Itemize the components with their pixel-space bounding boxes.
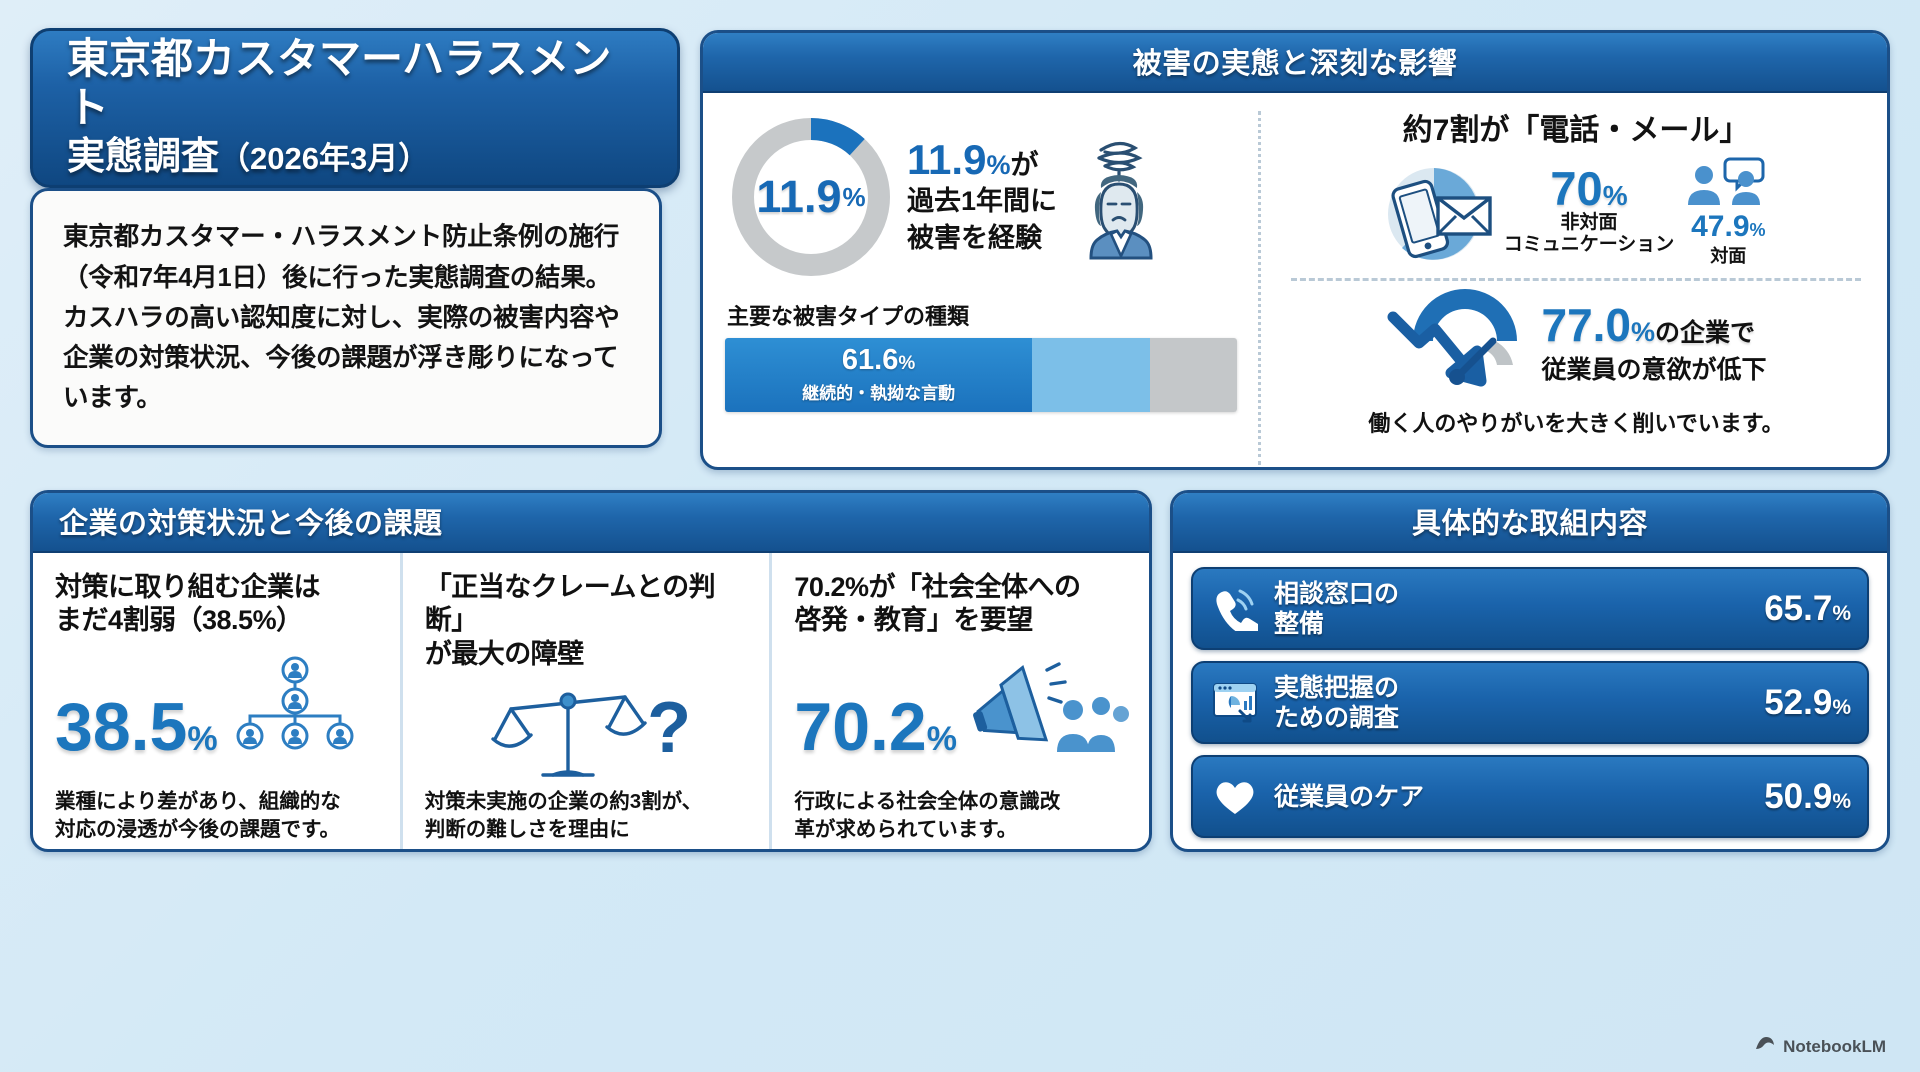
- org-chart-icon: [226, 656, 364, 757]
- measure-card-adoption: 対策に取り組む企業は まだ4割弱（38.5%） 38.5%: [33, 553, 400, 852]
- actions-panel: 具体的な取組内容 相談窓口の 整備 65.: [1170, 490, 1890, 852]
- action-item-consultation[interactable]: 相談窓口の 整備 65.7%: [1191, 567, 1869, 650]
- action-item-employee-care[interactable]: 従業員のケア 50.9%: [1191, 755, 1869, 838]
- nonfacetoface-value: 70: [1550, 162, 1602, 215]
- adoption-footnote-line1: 業種により差があり、組織的な: [55, 788, 382, 817]
- action-percent-consultation: %: [1832, 602, 1851, 625]
- action-label-survey-line1: 実態把握の: [1274, 674, 1399, 702]
- bar-primary-percent: %: [898, 353, 915, 374]
- donut-caption-line1: 過去1年間に: [907, 185, 1057, 218]
- bar-primary-value: 61.6: [842, 344, 898, 376]
- barrier-footnote-line2: 判断の難しさを理由に: [425, 816, 752, 845]
- infographic-canvas: 東京都カスタマーハラスメント 実態調査（2026年3月） 東京都カスタマー・ハラ…: [0, 0, 1920, 1072]
- impact-left-column: 11.9% 11.9%が 過去1年間に 被害を経験: [703, 93, 1258, 470]
- description-card: 東京都カスタマー・ハラスメント防止条例の施行（令和7年4月1日）後に行った実態調…: [30, 188, 662, 448]
- measure-card-education: 70.2%が「社会全体への 啓発・教育」を要望 70.2%: [769, 553, 1149, 852]
- facetoface-value: 47.9: [1691, 210, 1749, 243]
- donut-headline: 11.9%が: [907, 139, 1057, 181]
- action-label-consultation-line1: 相談窓口の: [1274, 580, 1399, 608]
- barrier-footnote-line1: 対策未実施の企業の約3割が、: [425, 788, 752, 817]
- channel-heading: 約7割が「電話・メール」: [1285, 105, 1867, 149]
- title-line-1: 東京都カスタマーハラスメント: [67, 35, 643, 132]
- adoption-percent: %: [187, 720, 217, 758]
- barrier-head-line2: が最大の障壁: [425, 638, 750, 671]
- heart-icon: [1209, 776, 1261, 818]
- title-line-2: 実態調査（2026年3月）: [67, 135, 643, 181]
- adoption-head-line1: 対策に取り組む企業は: [55, 571, 380, 604]
- measures-panel: 企業の対策状況と今後の課題 対策に取り組む企業は まだ4割弱（38.5%） 38…: [30, 490, 1152, 852]
- action-value-survey-wrap: 52.9%: [1764, 683, 1851, 723]
- actions-panel-body: 相談窓口の 整備 65.7%: [1173, 553, 1887, 848]
- action-label-employee-care: 従業員のケア: [1274, 782, 1751, 812]
- action-label-consultation-line2: 整備: [1274, 610, 1324, 638]
- action-value-employee-care-wrap: 50.9%: [1764, 777, 1851, 817]
- motivation-percent: %: [1631, 317, 1655, 347]
- balance-scales-icon: [483, 679, 653, 794]
- motivation-value: 77.0: [1541, 299, 1631, 351]
- nonfacetoface-label-1: 非対面: [1504, 212, 1675, 234]
- phone-icon: [1209, 587, 1261, 631]
- donut-chart: 11.9%: [725, 111, 897, 283]
- notebooklm-logo-icon: [1754, 1035, 1776, 1058]
- education-value-wrap: 70.2%: [794, 693, 957, 761]
- impact-panel: 被害の実態と深刻な影響 11.9%: [700, 30, 1890, 470]
- education-footnote: 行政による社会全体の意識改 革が求められています。: [794, 788, 1131, 845]
- bar-primary-label: 継続的・執拗な言動: [802, 379, 955, 404]
- question-mark-icon: ?: [647, 692, 691, 764]
- donut-headline-suffix: が: [1010, 149, 1038, 180]
- education-head-line2: 啓発・教育」を要望: [794, 604, 1129, 637]
- measure-card-barrier: 「正当なクレームとの判断」 が最大の障壁: [400, 553, 770, 852]
- channel-row: 70% 非対面 コミュニケーション: [1285, 155, 1867, 268]
- education-head-line1: 70.2%が「社会全体への: [794, 571, 1129, 604]
- impact-right-column: 約7割が「電話・メール」: [1261, 93, 1887, 470]
- impact-horizontal-divider: [1291, 278, 1861, 281]
- measures-panel-heading: 企業の対策状況と今後の課題: [33, 493, 1149, 553]
- measures-panel-body: 対策に取り組む企業は まだ4割弱（38.5%） 38.5%: [33, 553, 1149, 852]
- donut-side-text: 11.9%が 過去1年間に 被害を経験: [907, 139, 1057, 255]
- action-label-survey-line2: ための調査: [1274, 704, 1399, 732]
- impact-panel-heading: 被害の実態と深刻な影響: [703, 33, 1887, 93]
- watermark: NotebookLM: [1754, 1035, 1886, 1058]
- action-item-survey[interactable]: 実態把握の ための調査 52.9%: [1191, 661, 1869, 744]
- adoption-head-line2: まだ4割弱（38.5%）: [55, 604, 380, 637]
- motivation-stat: 77.0%の企業で 従業員の意欲が低下: [1541, 302, 1766, 386]
- action-label-survey: 実態把握の ための調査: [1274, 673, 1751, 733]
- title-card: 東京都カスタマーハラスメント 実態調査（2026年3月）: [30, 28, 680, 188]
- nonfacetoface-label-2: コミュニケーション: [1504, 234, 1675, 256]
- watermark-label: NotebookLM: [1783, 1037, 1886, 1057]
- donut-headline-percent: %: [986, 150, 1010, 180]
- bar-primary-value-wrap: 61.6%: [842, 346, 915, 375]
- survey-icon: [1209, 681, 1261, 725]
- adoption-value-wrap: 38.5%: [55, 693, 218, 761]
- stressed-worker-icon: [1067, 130, 1171, 265]
- donut-headline-number: 11.9: [907, 136, 986, 183]
- motivation-row: 77.0%の企業で 従業員の意欲が低下: [1285, 289, 1867, 398]
- action-value-survey: 52.9: [1764, 683, 1832, 722]
- bar-segment-primary: 61.6% 継続的・執拗な言動: [725, 338, 1032, 412]
- stacked-bar-chart: 61.6% 継続的・執拗な言動: [725, 338, 1237, 412]
- facetoface-value-wrap: 47.9%: [1680, 212, 1776, 242]
- nonfacetoface-percent: %: [1603, 180, 1628, 211]
- barrier-footnote: 対策未実施の企業の約3割が、 判断の難しさを理由に: [425, 788, 752, 845]
- education-value: 70.2: [794, 689, 926, 765]
- action-value-consultation-wrap: 65.7%: [1764, 589, 1851, 629]
- action-percent-survey: %: [1832, 696, 1851, 719]
- barrier-head-line1: 「正当なクレームとの判断」: [425, 571, 750, 638]
- donut-center-label: 11.9%: [725, 111, 897, 283]
- scales-question-icon-wrap: ?: [425, 679, 750, 794]
- people-chat-icon: [1680, 155, 1776, 212]
- action-percent-employee-care: %: [1832, 790, 1851, 813]
- nonfacetoface-stat: 70% 非対面 コミュニケーション: [1504, 167, 1675, 256]
- facetoface-percent: %: [1750, 220, 1766, 240]
- motivation-label: 従業員の意欲が低下: [1541, 350, 1766, 386]
- motivation-value-wrap: 77.0%の企業で: [1541, 302, 1766, 348]
- adoption-footnote-line2: 対応の浸透が今後の課題です。: [55, 816, 382, 845]
- nonfacetoface-value-wrap: 70%: [1504, 167, 1675, 212]
- facetoface-stat: 47.9% 対面: [1680, 155, 1776, 268]
- action-value-consultation: 65.7: [1764, 589, 1832, 628]
- phone-mail-pie-icon: [1376, 156, 1498, 268]
- education-percent: %: [927, 720, 957, 758]
- donut-percent: %: [842, 182, 865, 213]
- education-footnote-line2: 革が求められています。: [794, 816, 1131, 845]
- action-label-consultation: 相談窓口の 整備: [1274, 579, 1751, 639]
- impact-panel-body: 11.9% 11.9%が 過去1年間に 被害を経験: [703, 93, 1887, 470]
- action-label-employee-care-line1: 従業員のケア: [1274, 783, 1424, 811]
- donut-row: 11.9% 11.9%が 過去1年間に 被害を経験: [725, 111, 1242, 283]
- facetoface-label: 対面: [1680, 242, 1776, 268]
- action-value-employee-care: 50.9: [1764, 777, 1832, 816]
- bar-segment-secondary: [1032, 338, 1150, 412]
- education-footnote-line1: 行政による社会全体の意識改: [794, 788, 1131, 817]
- actions-panel-heading: 具体的な取組内容: [1173, 493, 1887, 553]
- donut-caption-line2: 被害を経験: [907, 222, 1057, 255]
- motivation-suffix: の企業で: [1655, 319, 1755, 347]
- motivation-note: 働く人のやりがいを大きく削いでいます。: [1285, 406, 1867, 438]
- title-sub: （2026年3月）: [219, 141, 429, 176]
- donut-value: 11.9: [756, 171, 841, 223]
- megaphone-audience-icon: [961, 652, 1129, 761]
- title-main: 実態調査: [67, 136, 219, 178]
- description-text: 東京都カスタマー・ハラスメント防止条例の施行（令和7年4月1日）後に行った実態調…: [63, 217, 629, 418]
- declining-gauge-icon: [1385, 289, 1531, 398]
- adoption-value: 38.5: [55, 689, 187, 765]
- bar-segment-remainder: [1150, 338, 1237, 412]
- adoption-footnote: 業種により差があり、組織的な 対応の浸透が今後の課題です。: [55, 788, 382, 845]
- bar-chart-title: 主要な被害タイプの種類: [727, 299, 1242, 331]
